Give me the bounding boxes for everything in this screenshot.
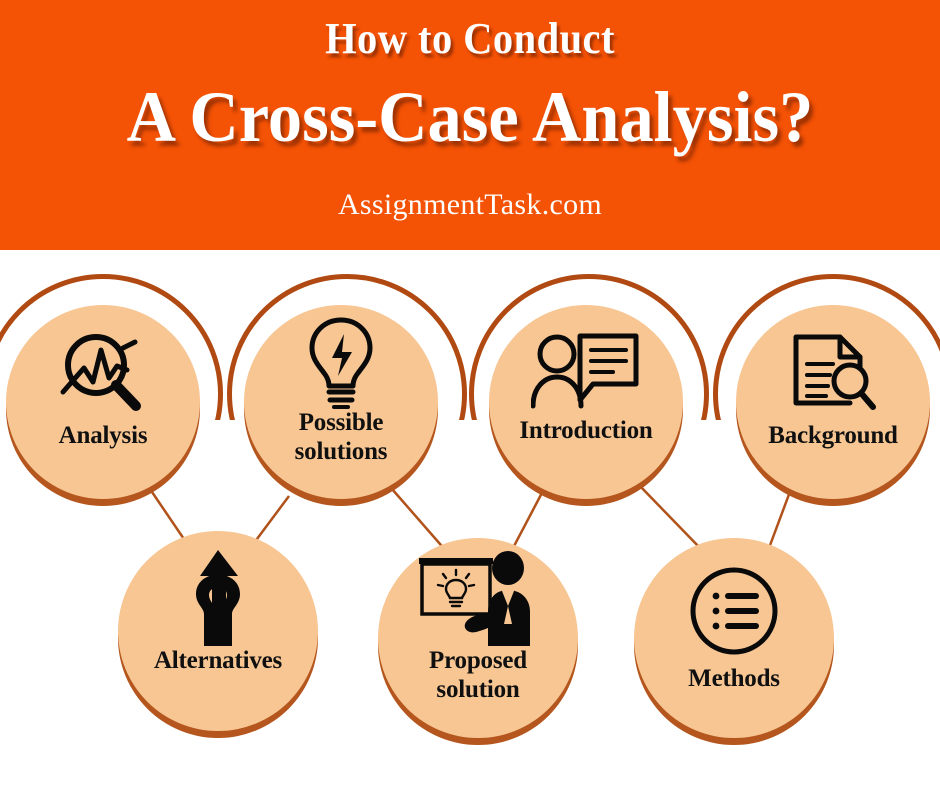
presenter-whiteboard-icon	[378, 550, 578, 646]
person-speech-bubble-icon	[489, 331, 683, 413]
bullet-list-circle-icon	[634, 564, 834, 658]
node-proposed-solution-label-line-2: solution	[378, 677, 578, 703]
node-proposed-solution-label-line-1: Proposed	[378, 648, 578, 674]
node-proposed-solution[interactable]: Proposed solution	[378, 538, 578, 738]
lightbulb-bolt-icon	[244, 317, 438, 409]
node-possible-solutions-label-line-2: solutions	[244, 439, 438, 465]
node-introduction[interactable]: Introduction	[489, 305, 683, 499]
node-background[interactable]: Background	[736, 305, 930, 499]
node-methods[interactable]: Methods	[634, 538, 834, 738]
branching-arrow-icon	[118, 551, 318, 647]
node-introduction-label: Introduction	[489, 418, 683, 444]
page-title-line-1: How to Conduct	[38, 16, 903, 62]
node-possible-solutions-label-line-1: Possible	[244, 410, 438, 436]
node-background-label: Background	[736, 423, 930, 449]
infographic-canvas: How to Conduct A Cross-Case Analysis? As…	[0, 0, 940, 788]
node-possible-solutions[interactable]: Possible solutions	[244, 305, 438, 499]
node-analysis-label: Analysis	[6, 423, 200, 449]
brand-name: AssignmentTask.com	[0, 188, 940, 222]
node-analysis[interactable]: Analysis	[6, 305, 200, 499]
magnifier-chart-icon	[6, 333, 200, 417]
document-magnifier-icon	[736, 331, 930, 415]
page-title-line-2: A Cross-Case Analysis?	[24, 80, 917, 156]
node-methods-label: Methods	[634, 666, 834, 692]
node-alternatives-label: Alternatives	[118, 648, 318, 674]
node-alternatives[interactable]: Alternatives	[118, 531, 318, 731]
